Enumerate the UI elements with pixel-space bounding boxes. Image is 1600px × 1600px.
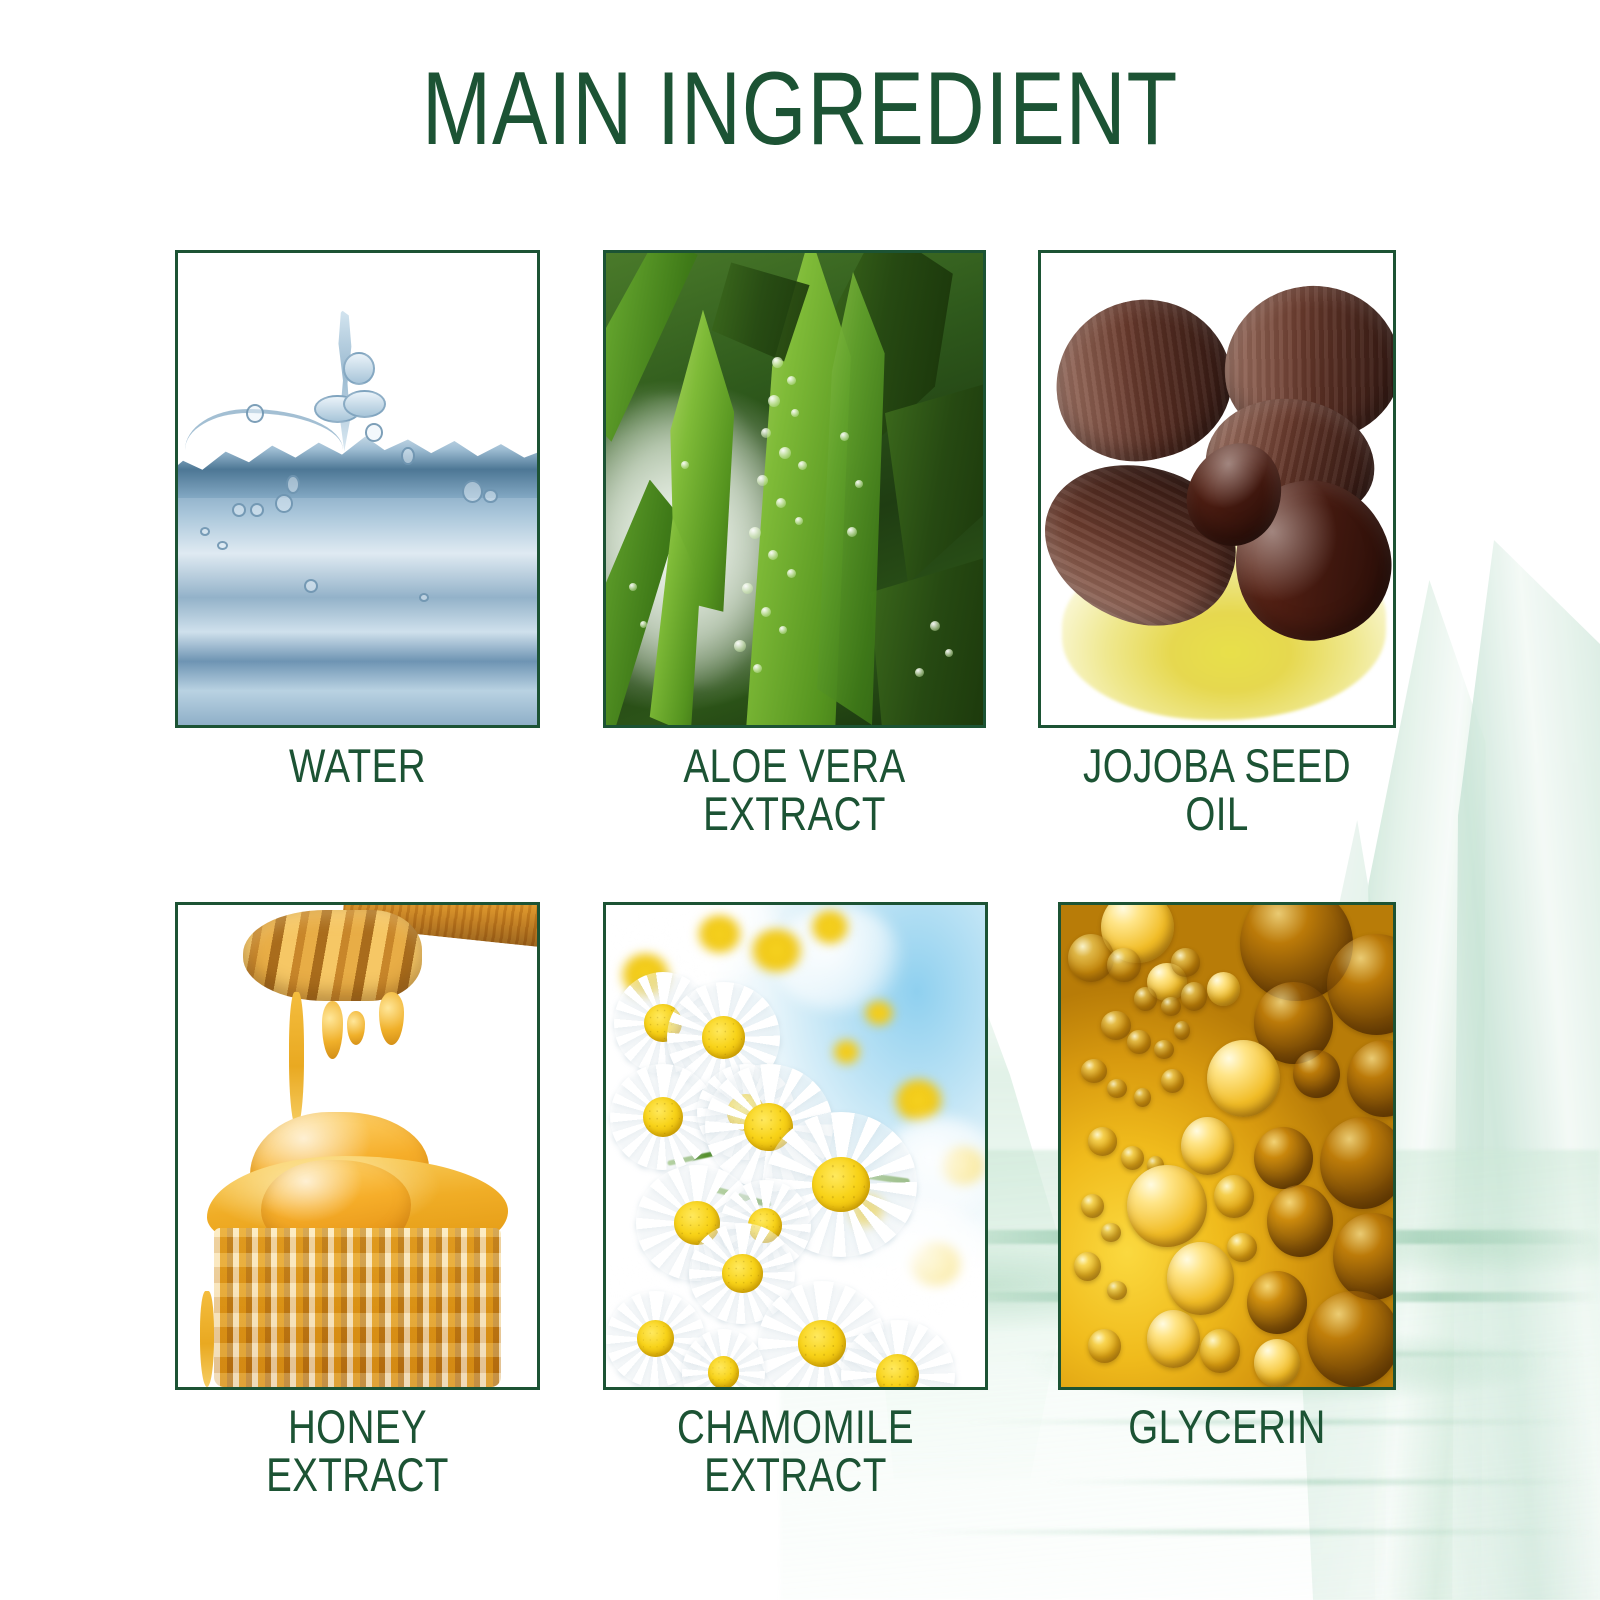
page-title: MAIN INGREDIENT xyxy=(160,55,1440,164)
ingredient-label-chamomile-extract: CHAMOMILE EXTRACT xyxy=(638,1403,954,1499)
water-splash-image xyxy=(175,250,540,728)
ingredient-label-glycerin: GLYCERIN xyxy=(1088,1403,1365,1451)
glycerin-image xyxy=(1058,902,1396,1390)
jojoba-seed-oil-image xyxy=(1038,250,1396,728)
honey-extract-image xyxy=(175,902,540,1390)
ingredient-label-water: WATER xyxy=(208,742,507,790)
watermark-streak xyxy=(900,1530,1600,1534)
ingredient-label-jojoba-seed-oil: JOJOBA SEED OIL xyxy=(1055,742,1378,838)
watermark-aloe-leaf-front xyxy=(1452,540,1600,1600)
ingredient-label-honey-extract: HONEY EXTRACT xyxy=(200,1403,516,1499)
ingredient-label-aloe-vera: ALOE VERA EXTRACT xyxy=(637,742,951,838)
aloe-vera-image xyxy=(603,250,986,728)
watermark-streak xyxy=(1040,1480,1600,1484)
chamomile-extract-image xyxy=(603,902,988,1390)
